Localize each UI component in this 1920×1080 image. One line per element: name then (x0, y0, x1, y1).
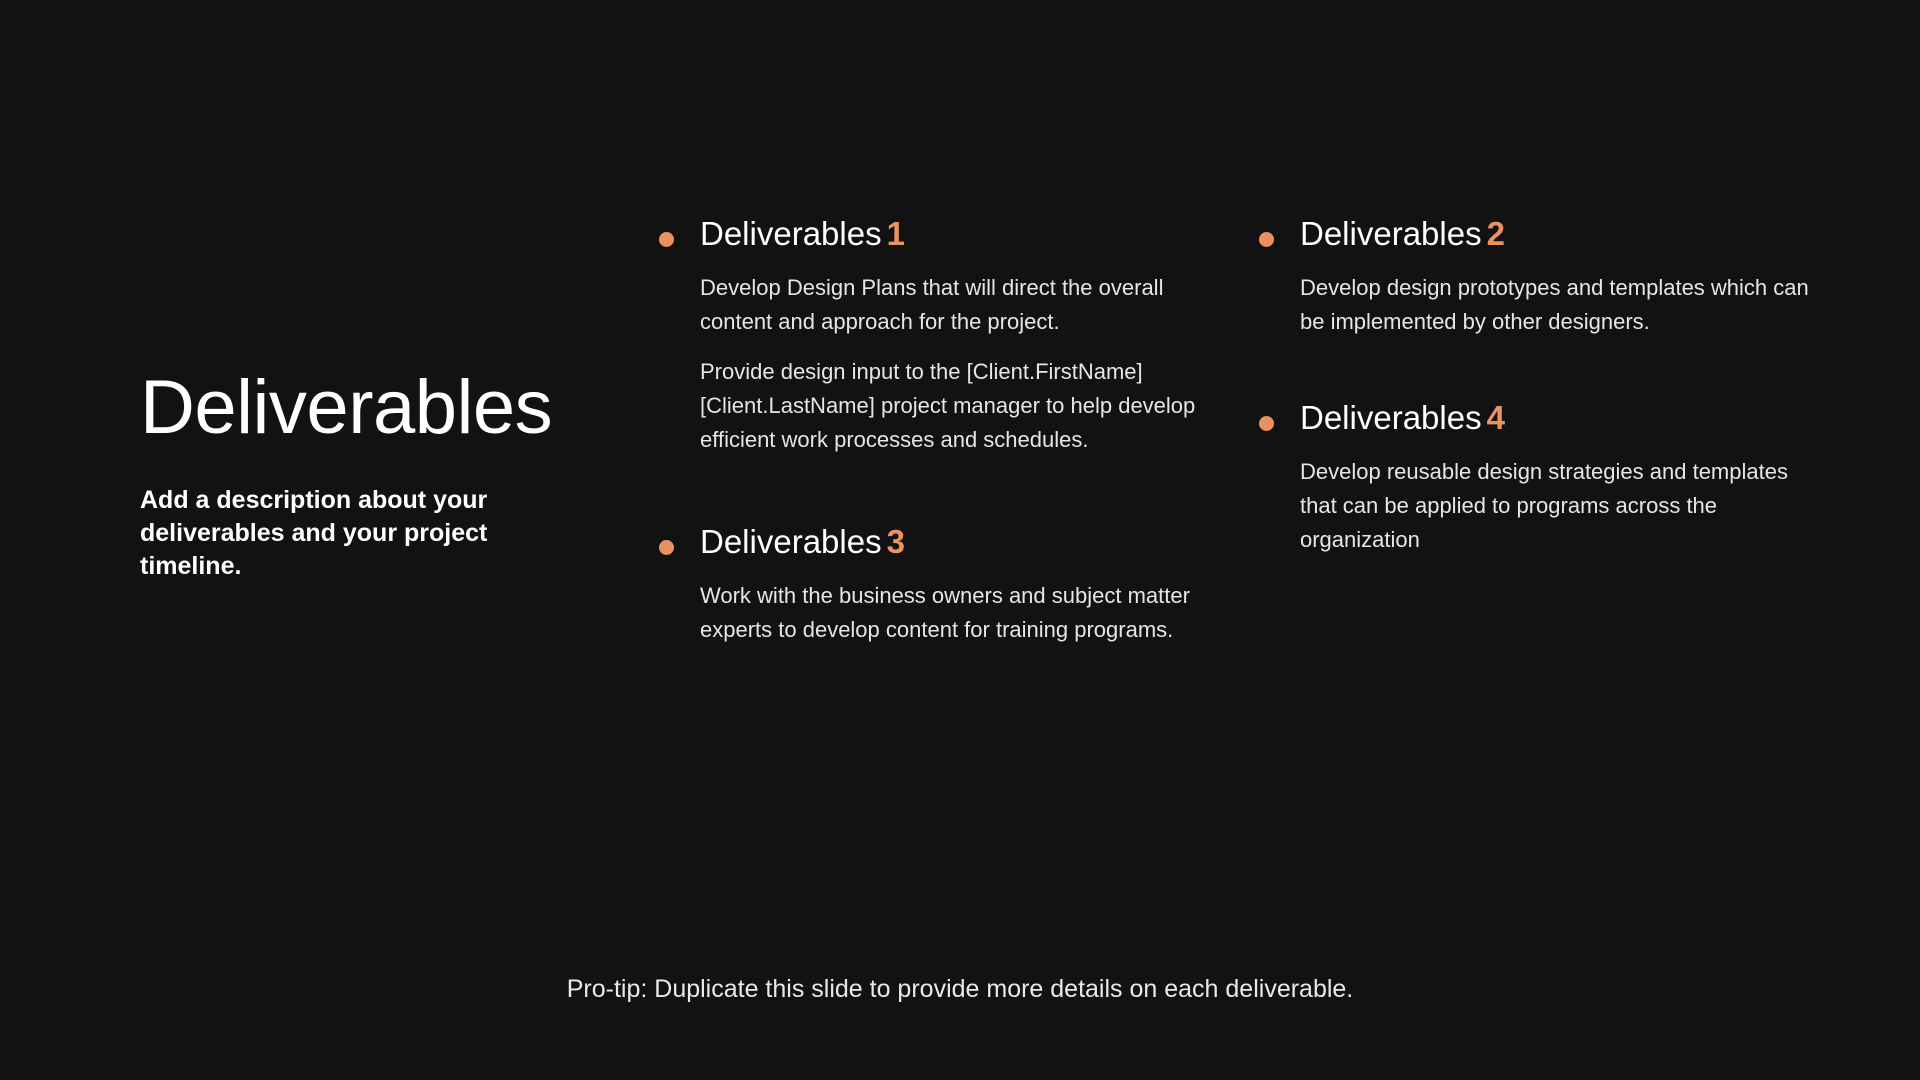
deliverable-item[interactable]: Deliverables1 Develop Design Plans that … (700, 215, 1200, 457)
deliverable-number: 1 (887, 215, 905, 252)
bullet-dot-icon (1259, 416, 1274, 431)
deliverable-item[interactable]: Deliverables3 Work with the business own… (700, 523, 1200, 647)
deliverable-heading: Deliverables3 (700, 523, 1200, 562)
deliverable-label: Deliverables (700, 523, 882, 560)
slide-canvas: Deliverables Add a description about you… (0, 0, 1920, 1080)
deliverable-number: 3 (887, 523, 905, 560)
deliverable-number: 4 (1487, 399, 1505, 436)
deliverable-number: 2 (1487, 215, 1505, 252)
deliverable-paragraph: Develop reusable design strategies and t… (1300, 455, 1820, 557)
deliverable-paragraph: Develop Design Plans that will direct th… (700, 271, 1200, 339)
deliverable-paragraph: Work with the business owners and subjec… (700, 579, 1200, 647)
bullet-dot-icon (659, 540, 674, 555)
bullet-dot-icon (1259, 232, 1274, 247)
deliverable-item[interactable]: Deliverables4 Develop reusable design st… (1300, 399, 1820, 557)
deliverable-paragraph: Develop design prototypes and templates … (1300, 271, 1820, 339)
left-panel: Deliverables Add a description about you… (140, 370, 590, 583)
deliverable-heading: Deliverables1 (700, 215, 1200, 254)
deliverable-paragraph: Provide design input to the [Client.Firs… (700, 355, 1200, 457)
deliverables-column-left: Deliverables1 Develop Design Plans that … (700, 215, 1200, 648)
page-subtitle: Add a description about your deliverable… (140, 484, 560, 583)
deliverable-heading: Deliverables2 (1300, 215, 1820, 254)
pro-tip-text: Pro-tip: Duplicate this slide to provide… (0, 975, 1920, 1004)
deliverable-heading: Deliverables4 (1300, 399, 1820, 438)
deliverables-column-right: Deliverables2 Develop design prototypes … (1300, 215, 1820, 557)
bullet-dot-icon (659, 232, 674, 247)
deliverable-label: Deliverables (1300, 399, 1482, 436)
page-title: Deliverables (140, 370, 590, 446)
deliverable-label: Deliverables (700, 215, 882, 252)
deliverable-item[interactable]: Deliverables2 Develop design prototypes … (1300, 215, 1820, 339)
deliverable-label: Deliverables (1300, 215, 1482, 252)
